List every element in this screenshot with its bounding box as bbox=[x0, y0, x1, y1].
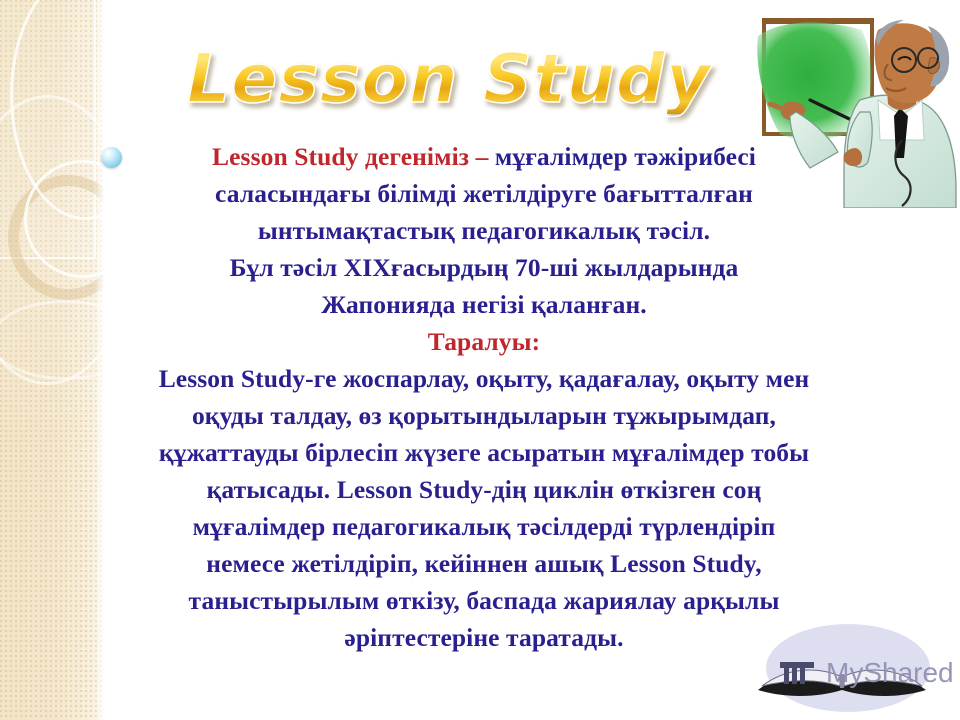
body-line-6-heading: Таралуы: bbox=[48, 323, 920, 360]
body-line-11: мұғалімдер педагогикалық тәсілдерді түрл… bbox=[48, 508, 920, 545]
body-line-3: ынтымақтастық педагогикалық тәсіл. bbox=[48, 212, 920, 249]
body-line-10: қатысады. Lesson Study-дің циклін өткізг… bbox=[48, 471, 920, 508]
body-line-8: оқуды талдау, өз қорытындыларын тұжырымд… bbox=[48, 397, 920, 434]
body-line-2: саласындағы білімді жетілдіруге бағыттал… bbox=[48, 175, 920, 212]
body-line-9: құжаттауды бірлесіп жүзеге асыратын мұға… bbox=[48, 434, 920, 471]
body-line-7: Lesson Study-ге жоспарлау, оқыту, қадаға… bbox=[48, 360, 920, 397]
bullet-sphere-icon bbox=[101, 147, 122, 168]
body-line-13: таныстырылым өткізу, баспада жариялау ар… bbox=[48, 582, 920, 619]
body-line-1-segment-blue: мұғалімдер тәжірибесі bbox=[495, 142, 756, 171]
body-line-12: немесе жетілдіріп, кейіннен ашық Lesson … bbox=[48, 545, 920, 582]
title-wordart-container: Lesson Study bbox=[104, 46, 794, 114]
slide-canvas: Lesson Study Lesson Study дегеніміз – мұ… bbox=[0, 0, 960, 720]
myshared-watermark: MyShared bbox=[740, 618, 960, 718]
body-line-1-segment-red: Lesson Study дегеніміз – bbox=[212, 142, 495, 171]
body-line-4: Бұл тәсіл XIXғасырдың 70-ші жылдарында bbox=[48, 249, 920, 286]
body-line-1: Lesson Study дегеніміз – мұғалімдер тәжі… bbox=[48, 138, 920, 175]
body-text-block: Lesson Study дегеніміз – мұғалімдер тәжі… bbox=[48, 138, 920, 656]
page-title: Lesson Study bbox=[187, 46, 711, 114]
watermark-label: MyShared bbox=[826, 657, 954, 688]
body-line-5: Жапонияда негізі қаланған. bbox=[48, 286, 920, 323]
